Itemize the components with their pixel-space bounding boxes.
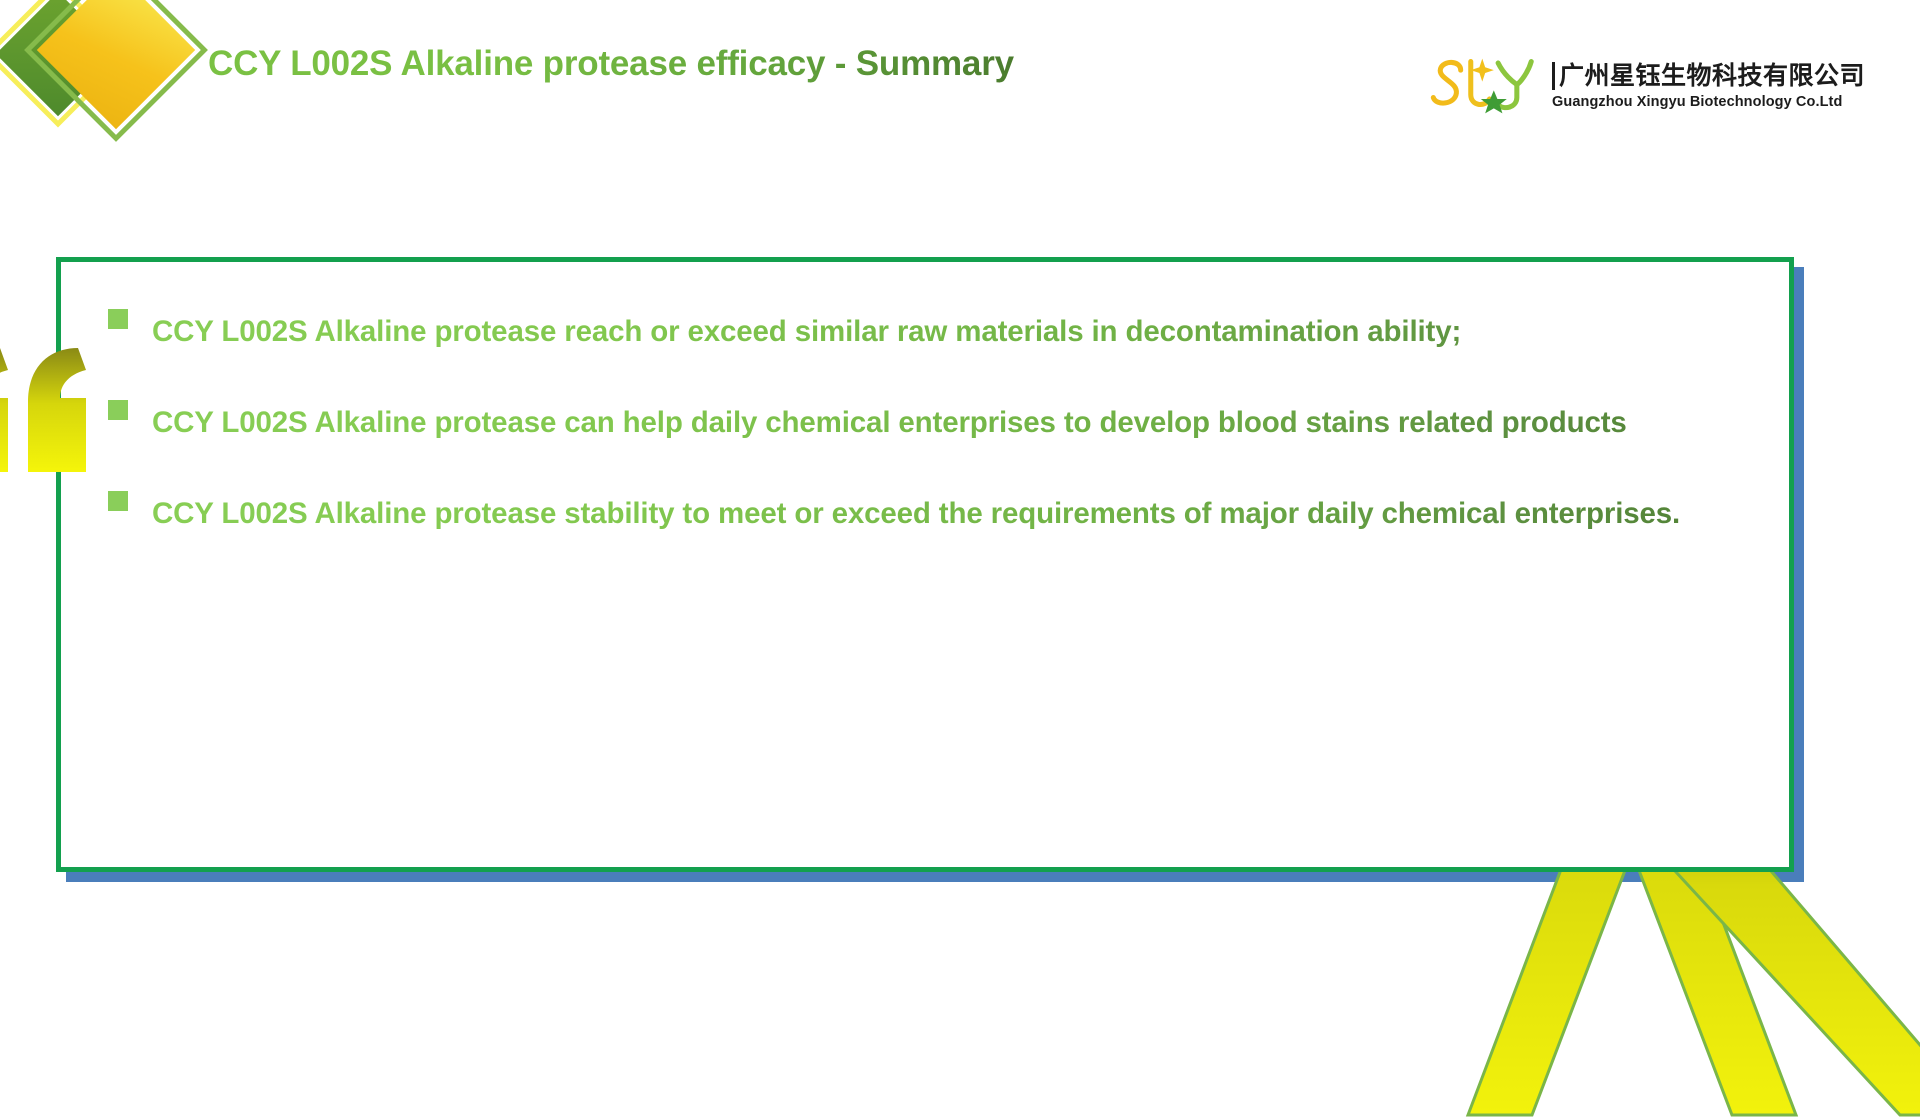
bullet-list: CCY L002S Alkaline protease reach or exc…	[108, 288, 1808, 561]
company-name-en: Guangzhou Xingyu Biotechnology Co.Ltd	[1552, 94, 1865, 110]
bullet-square-icon	[108, 400, 128, 420]
bullet-square-icon	[108, 491, 128, 511]
quotation-mark-icon	[0, 340, 112, 480]
company-name-block: 广州星钰生物科技有限公司 Guangzhou Xingyu Biotechnol…	[1552, 62, 1865, 110]
bullet-text: CCY L002S Alkaline protease reach or exc…	[152, 288, 1802, 375]
bullet-text: CCY L002S Alkaline protease can help dai…	[152, 379, 1802, 466]
list-item: CCY L002S Alkaline protease can help dai…	[108, 379, 1808, 466]
company-name-cn: 广州星钰生物科技有限公司	[1552, 62, 1865, 90]
bullet-square-icon	[108, 309, 128, 329]
bullet-text: CCY L002S Alkaline protease stability to…	[152, 470, 1802, 557]
sly-logo-icon	[1428, 50, 1538, 122]
company-logo: 广州星钰生物科技有限公司 Guangzhou Xingyu Biotechnol…	[1428, 50, 1865, 122]
list-item: CCY L002S Alkaline protease stability to…	[108, 470, 1808, 557]
list-item: CCY L002S Alkaline protease reach or exc…	[108, 288, 1808, 375]
page-title: CCY L002S Alkaline protease efficacy - S…	[208, 44, 1014, 84]
brand-diamonds-decoration	[0, 0, 212, 146]
